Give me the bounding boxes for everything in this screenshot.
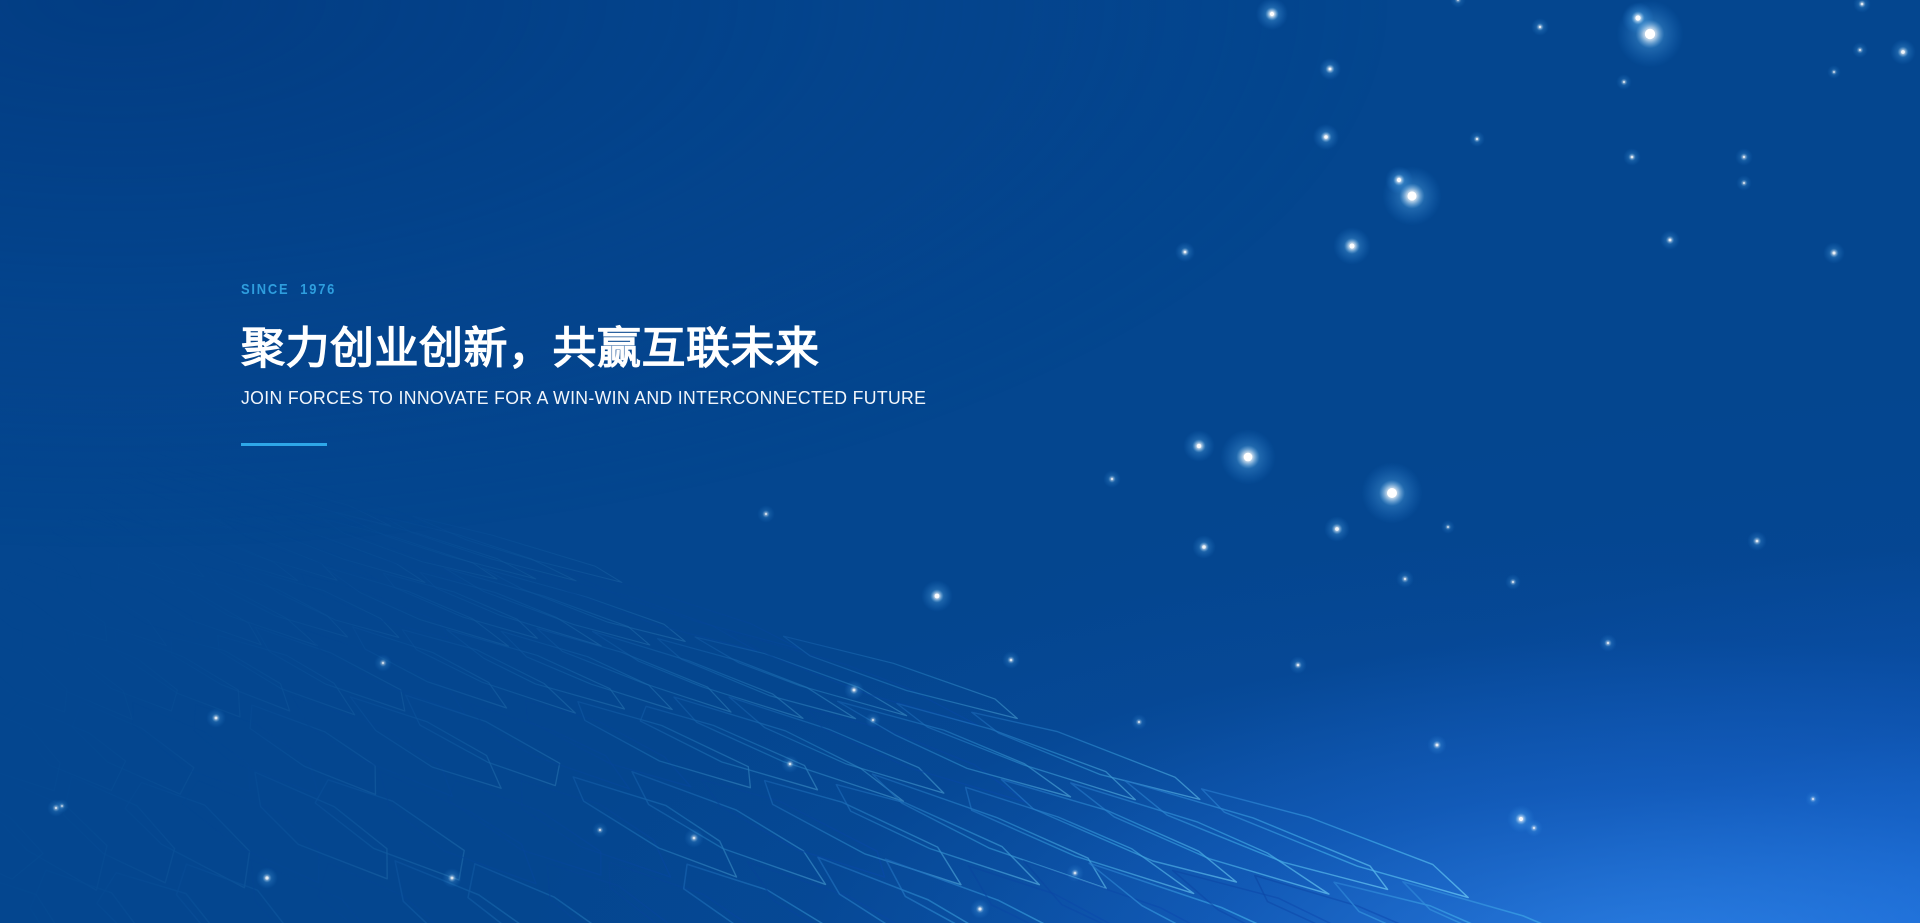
hero-headline: 聚力创业创新，共赢互联未来	[241, 325, 1241, 373]
accent-rule-divider	[241, 443, 327, 446]
background-vignette	[0, 0, 1920, 923]
hero-copy-block: SINCE 1976 聚力创业创新，共赢互联未来 JOIN FORCES TO …	[241, 282, 1241, 446]
hero-banner: SINCE 1976 聚力创业创新，共赢互联未来 JOIN FORCES TO …	[0, 0, 1920, 923]
eyebrow-since-label: SINCE 1976	[241, 282, 1101, 297]
hero-subheadline: JOIN FORCES TO INNOVATE FOR A WIN-WIN AN…	[241, 387, 1196, 409]
